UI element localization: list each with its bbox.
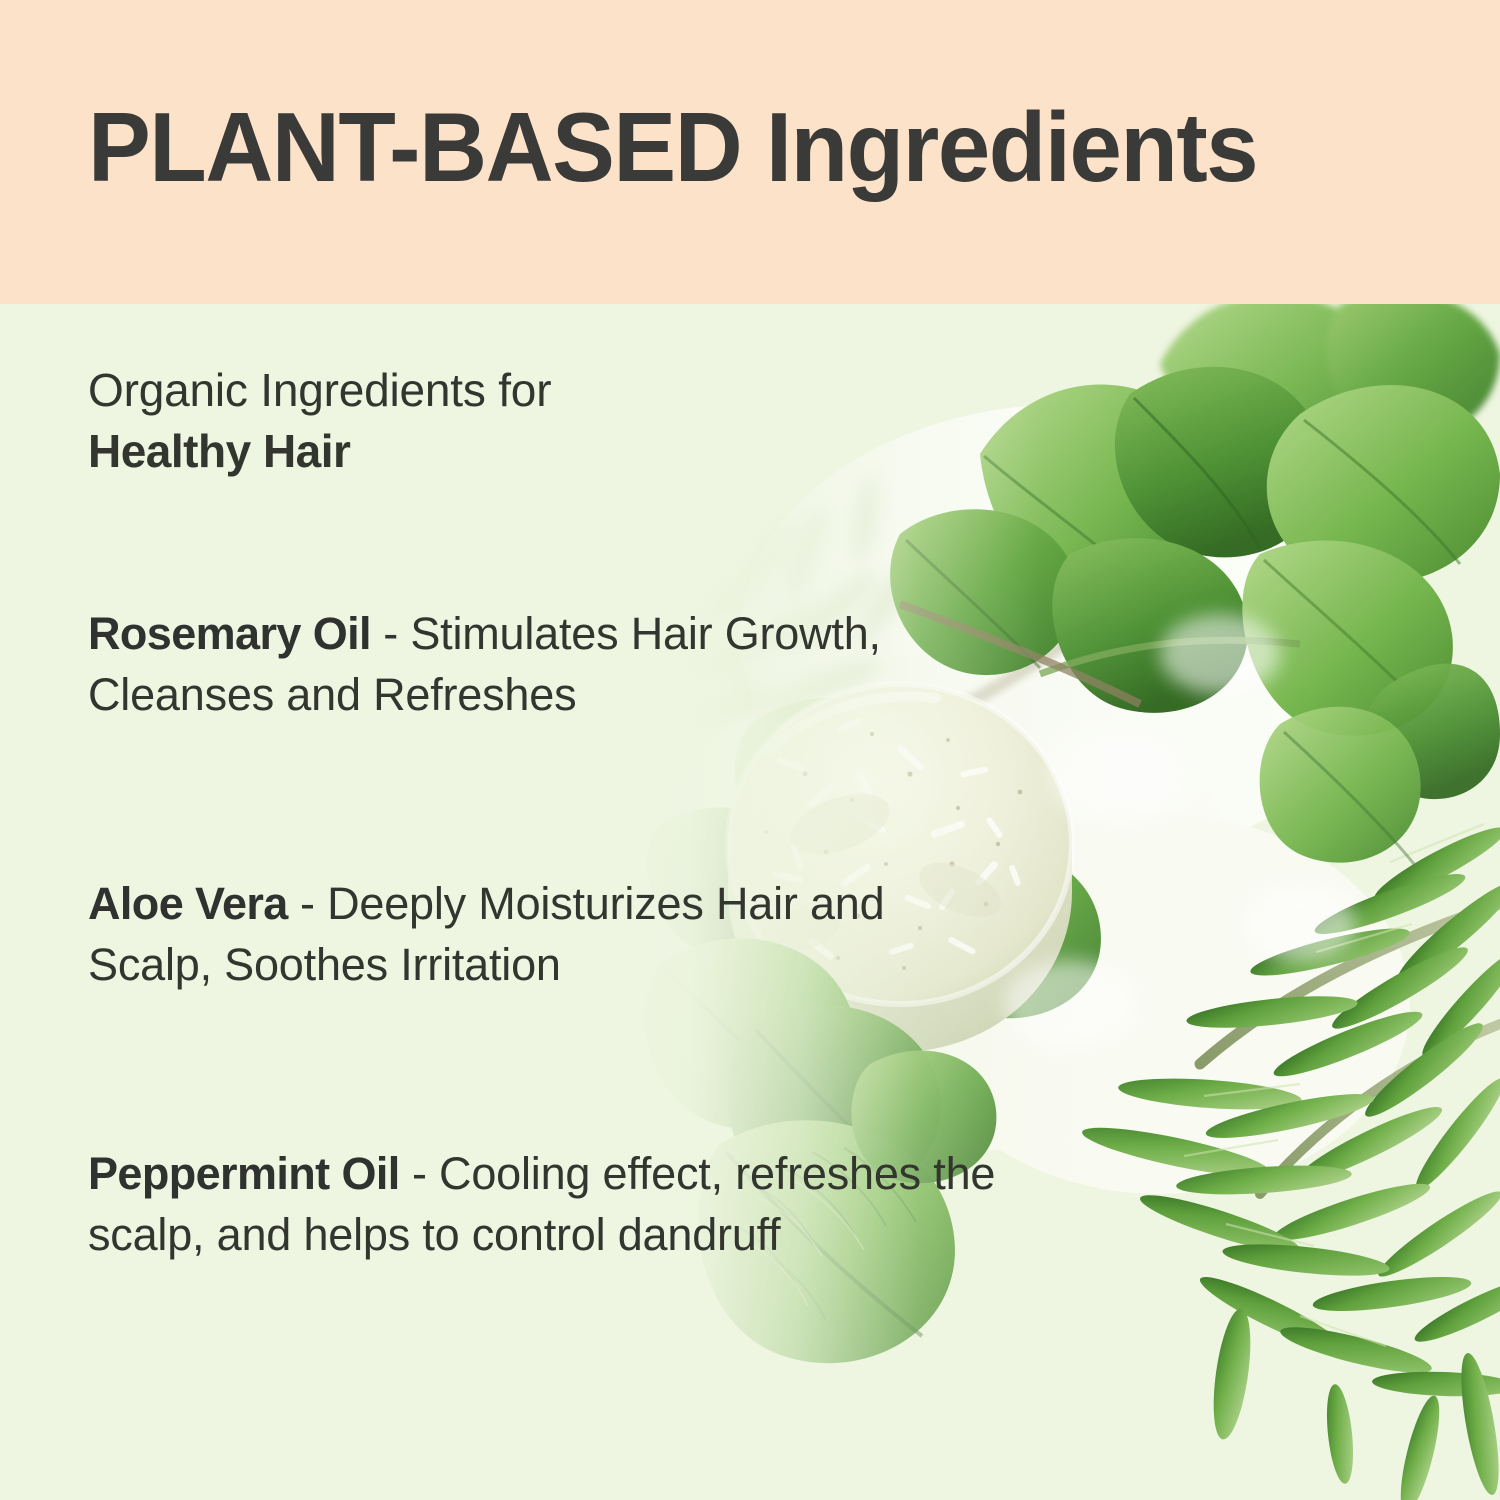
- ingredient-item-aloe: Aloe Vera - Deeply Moisturizes Hair and …: [88, 874, 928, 996]
- subheading-line2: Healthy Hair: [88, 425, 350, 477]
- ingredient-separator-aloe: -: [288, 878, 327, 929]
- ingredient-separator-peppermint: -: [400, 1148, 439, 1199]
- header-banner: PLANT-BASED Ingredients: [0, 0, 1500, 304]
- ingredient-item-peppermint: Peppermint Oil - Cooling effect, refresh…: [88, 1144, 1008, 1266]
- ingredient-name-peppermint: Peppermint Oil: [88, 1148, 400, 1199]
- page-title: PLANT-BASED Ingredients: [88, 96, 1257, 199]
- ingredient-name-aloe: Aloe Vera: [88, 878, 288, 929]
- body-section: Organic Ingredients for Healthy Hair Ros…: [0, 304, 1500, 1500]
- page-title-part1: PLANT-BASED: [88, 92, 741, 202]
- page-title-part2: Ingredients: [741, 92, 1257, 202]
- subheading-line1: Organic Ingredients for: [88, 364, 551, 416]
- infographic-page: PLANT-BASED Ingredients: [0, 0, 1500, 1500]
- ingredient-separator-rosemary: -: [371, 608, 410, 659]
- ingredient-name-rosemary: Rosemary Oil: [88, 608, 371, 659]
- ingredient-item-rosemary: Rosemary Oil - Stimulates Hair Growth, C…: [88, 604, 928, 726]
- subheading: Organic Ingredients for Healthy Hair: [88, 360, 848, 482]
